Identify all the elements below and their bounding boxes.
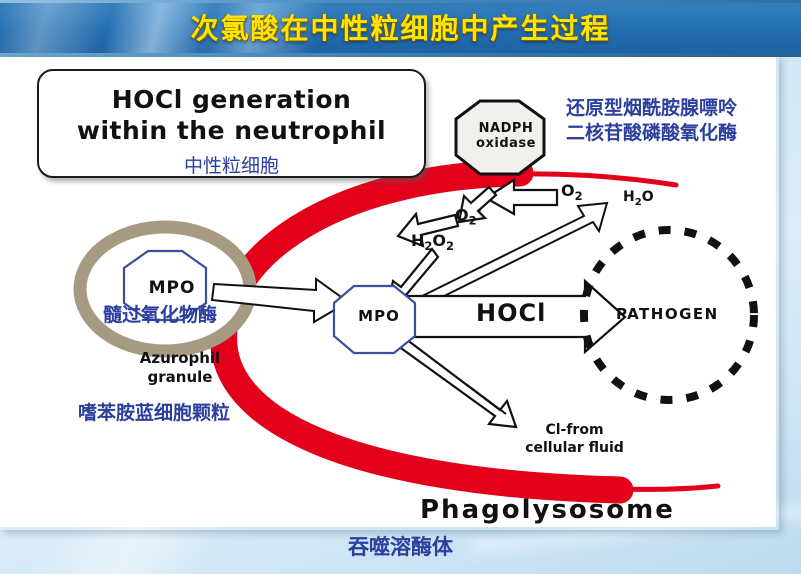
chloride-line-2: cellular fluid: [512, 439, 637, 457]
phagolysosome-label: Phagolysosome: [420, 495, 675, 525]
nadph-chinese-line-1: 还原型烟酰胺腺嘌呤: [566, 96, 801, 121]
h2o-sub: 2: [635, 197, 642, 208]
superoxide-subscript: 2: [469, 214, 477, 228]
header-callout-box: HOCl generation within the neutrophil 中性…: [37, 69, 426, 178]
granule-mpo-label: MPO: [132, 278, 212, 298]
granule-mpo-chinese-label: 髓过氧化物酶: [103, 300, 217, 327]
chloride-source-caption: Cl-from cellular fluid: [512, 421, 637, 457]
superoxide-label: O2-: [455, 204, 481, 228]
o2-subscript: 2: [575, 189, 583, 203]
h2o2-sub2: 2: [446, 239, 454, 253]
h2o-h: H: [623, 189, 635, 205]
nadph-chinese-label: 还原型烟酰胺腺嘌呤 二核苷酸磷酸氧化酶: [566, 96, 801, 146]
oxygen-label: O2: [561, 181, 583, 203]
h2o-o: O: [642, 189, 654, 205]
nadph-label-line-1: NADPH: [466, 121, 546, 136]
header-line-2: within the neutrophil: [39, 116, 424, 145]
pathogen-label: PATHOGEN: [616, 305, 719, 323]
water-label: H2O: [623, 189, 654, 208]
slide-canvas: 次氯酸在中性粒细胞中产生过程: [0, 0, 801, 574]
azurophil-chinese-label: 嗜苯胺蓝细胞颗粒: [78, 398, 230, 425]
header-line-1: HOCl generation: [39, 85, 424, 114]
superoxide-element: O: [455, 205, 469, 224]
azurophil-line-2: granule: [110, 368, 250, 387]
header-chinese-label: 中性粒细胞: [39, 151, 424, 178]
cell-mpo-label: MPO: [343, 307, 415, 325]
azurophil-granule-caption: Azurophil granule: [110, 349, 250, 387]
azurophil-line-1: Azurophil: [110, 349, 250, 368]
h2o2-o: O: [432, 231, 446, 250]
chloride-line-1: Cl-from: [512, 421, 637, 439]
superoxide-charge: -: [477, 204, 482, 217]
nadph-label-line-2: oxidase: [466, 136, 546, 151]
hocl-label: HOCl: [476, 299, 546, 327]
hydrogen-peroxide-label: H2O2: [411, 231, 454, 253]
h2o2-h: H: [411, 231, 424, 250]
phagolysosome-chinese-label: 吞噬溶酶体: [0, 531, 801, 561]
o2-element: O: [561, 181, 575, 200]
nadph-chinese-line-2: 二核苷酸磷酸氧化酶: [566, 121, 801, 146]
